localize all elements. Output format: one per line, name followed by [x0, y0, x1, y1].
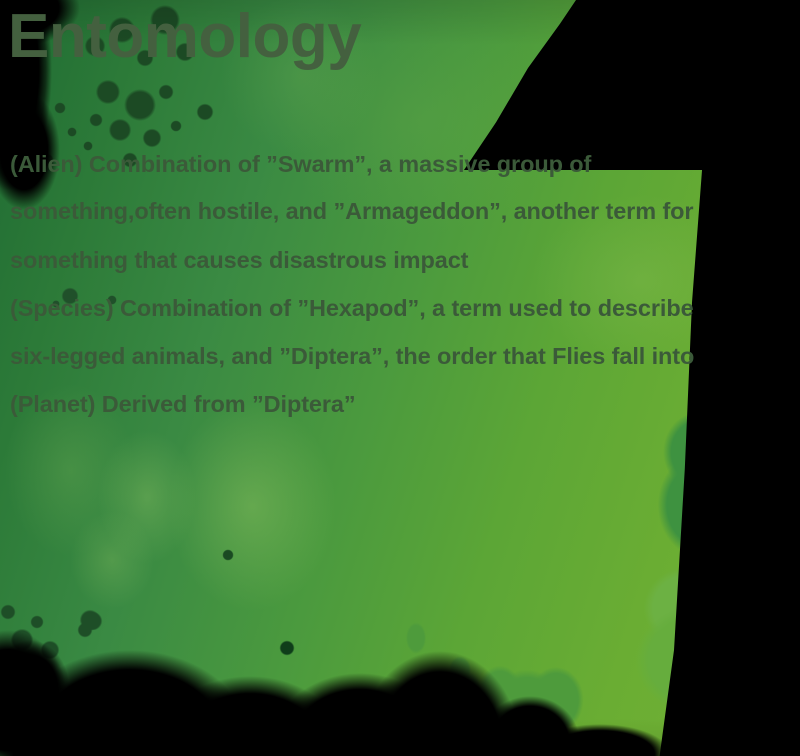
page-title: Entomology	[8, 4, 361, 71]
slide-canvas: Entomology (Alien) Combination of ”Swarm…	[0, 0, 800, 756]
description-line-6: (Planet) Derived from ”Diptera”	[10, 392, 356, 418]
description-line-3: something that causes disastrous impact	[10, 248, 468, 274]
description-line-4: (Species) Combination of ”Hexapod”, a te…	[10, 296, 694, 322]
content-area: Entomology (Alien) Combination of ”Swarm…	[0, 0, 800, 756]
description-line-2: something,often hostile, and ”Armageddon…	[10, 199, 693, 225]
description-line-5: six-legged animals, and ”Diptera”, the o…	[10, 344, 694, 370]
description-line-1: (Alien) Combination of ”Swarm”, a massiv…	[10, 152, 591, 178]
